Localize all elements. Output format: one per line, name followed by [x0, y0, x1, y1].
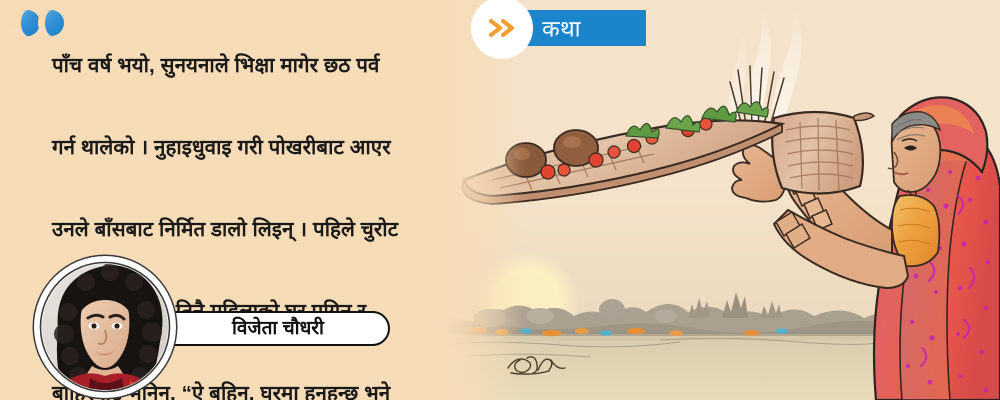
article-quote-banner: पाँच वर्ष भयो, सुनयनाले भिक्षा मागेर छठ … [0, 0, 1000, 400]
category-badge-label: कथा [542, 11, 581, 43]
avatar [34, 256, 176, 398]
badge-icon-circle [471, 0, 533, 59]
author-name: विजेता चौधरी [232, 313, 402, 344]
double-chevron-right-icon [485, 16, 519, 40]
artist-signature [505, 352, 571, 376]
quote-line: उनले बाँसबाट निर्मित डालो लिइन् । पहिले … [52, 209, 502, 250]
quote-line: गर्न थालेको । नुहाइधुवाइ गरी पोखरीबाट आए… [52, 127, 502, 168]
quote-line: पाँच वर्ष भयो, सुनयनाले भिक्षा मागेर छठ … [52, 45, 502, 86]
category-badge[interactable]: कथा [484, 10, 646, 46]
